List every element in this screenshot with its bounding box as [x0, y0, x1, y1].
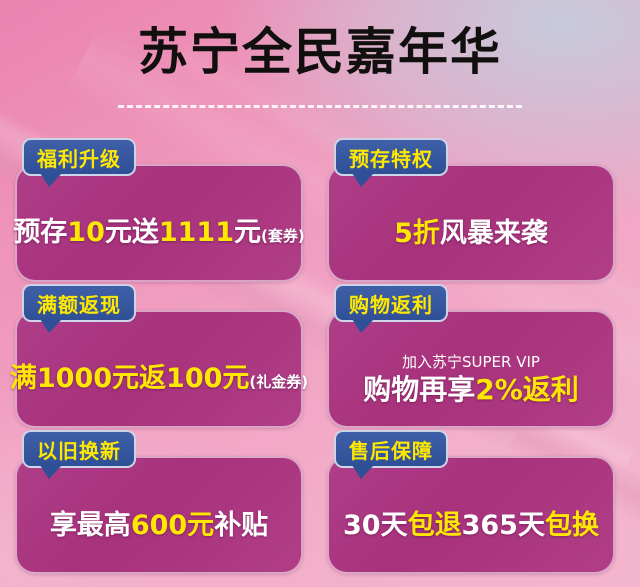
promo-card[interactable]: 售后保障 30天包退365天包换: [327, 456, 615, 574]
card-headline: 30天包退365天包换: [343, 509, 599, 543]
headline-part: 预存: [13, 217, 67, 248]
headline-part-highlight: 1111: [159, 217, 234, 248]
headline-part-highlight: 包退: [408, 510, 462, 541]
card-body: 享最高600元补贴: [17, 484, 301, 572]
card-badge: 购物返利: [334, 284, 448, 322]
card-body: 预存10元送1111元(套券): [17, 192, 301, 280]
promo-card[interactable]: 以旧换新 享最高600元补贴: [15, 456, 303, 574]
card-badge: 预存特权: [334, 138, 448, 176]
headline-part-highlight: 10: [67, 217, 105, 248]
promo-card-grid: 福利升级 预存10元送1111元(套券) 预存特权 5折风暴来袭 满额返现 满1…: [0, 118, 640, 587]
headline-part: 365天: [462, 510, 545, 541]
headline-suffix: (礼金券): [249, 373, 308, 391]
headline-part: 享最高: [50, 510, 131, 541]
card-headline: 满1000元返100元(礼金券): [10, 362, 308, 399]
card-body: 满1000元返100元(礼金券): [17, 338, 301, 426]
card-badge: 售后保障: [334, 430, 448, 468]
promo-card[interactable]: 满额返现 满1000元返100元(礼金券): [15, 310, 303, 428]
headline-part: 风暴来袭: [440, 218, 548, 249]
card-body: 5折风暴来袭: [329, 192, 613, 280]
headline-part-highlight: 2%返利: [475, 373, 579, 406]
headline-part: 30天: [343, 510, 408, 541]
headline-part: 元送: [105, 217, 159, 248]
card-badge: 福利升级: [22, 138, 136, 176]
banner-header: 苏宁全民嘉年华: [0, 0, 640, 118]
headline-part-highlight: 5折: [394, 218, 440, 249]
card-badge: 满额返现: [22, 284, 136, 322]
headline-part-highlight: 满1000元返100元: [10, 363, 250, 394]
card-badge: 以旧换新: [22, 430, 136, 468]
card-headline: 享最高600元补贴: [50, 509, 268, 543]
card-body: 30天包退365天包换: [329, 484, 613, 572]
promo-banner: 苏宁全民嘉年华 福利升级 预存10元送1111元(套券) 预存特权 5折风暴来袭…: [0, 0, 640, 587]
card-headline: 购物再享2%返利: [363, 373, 579, 407]
promo-card[interactable]: 购物返利 加入苏宁SUPER VIP 购物再享2%返利: [327, 310, 615, 428]
page-title: 苏宁全民嘉年华: [0, 22, 640, 82]
headline-suffix: (套券): [261, 227, 305, 245]
headline-part-highlight: 包换: [545, 510, 599, 541]
promo-card[interactable]: 预存特权 5折风暴来袭: [327, 164, 615, 282]
headline-part: 补贴: [214, 510, 268, 541]
headline-part: 元: [234, 217, 261, 248]
headline-part-highlight: 600元: [131, 510, 214, 541]
promo-card[interactable]: 福利升级 预存10元送1111元(套券): [15, 164, 303, 282]
headline-part: 购物再享: [363, 373, 475, 406]
card-subheadline: 加入苏宁SUPER VIP: [402, 353, 540, 372]
card-body: 加入苏宁SUPER VIP 购物再享2%返利: [329, 338, 613, 426]
title-divider: [118, 105, 522, 108]
card-headline: 预存10元送1111元(套券): [13, 216, 304, 253]
card-headline: 5折风暴来袭: [394, 217, 548, 251]
